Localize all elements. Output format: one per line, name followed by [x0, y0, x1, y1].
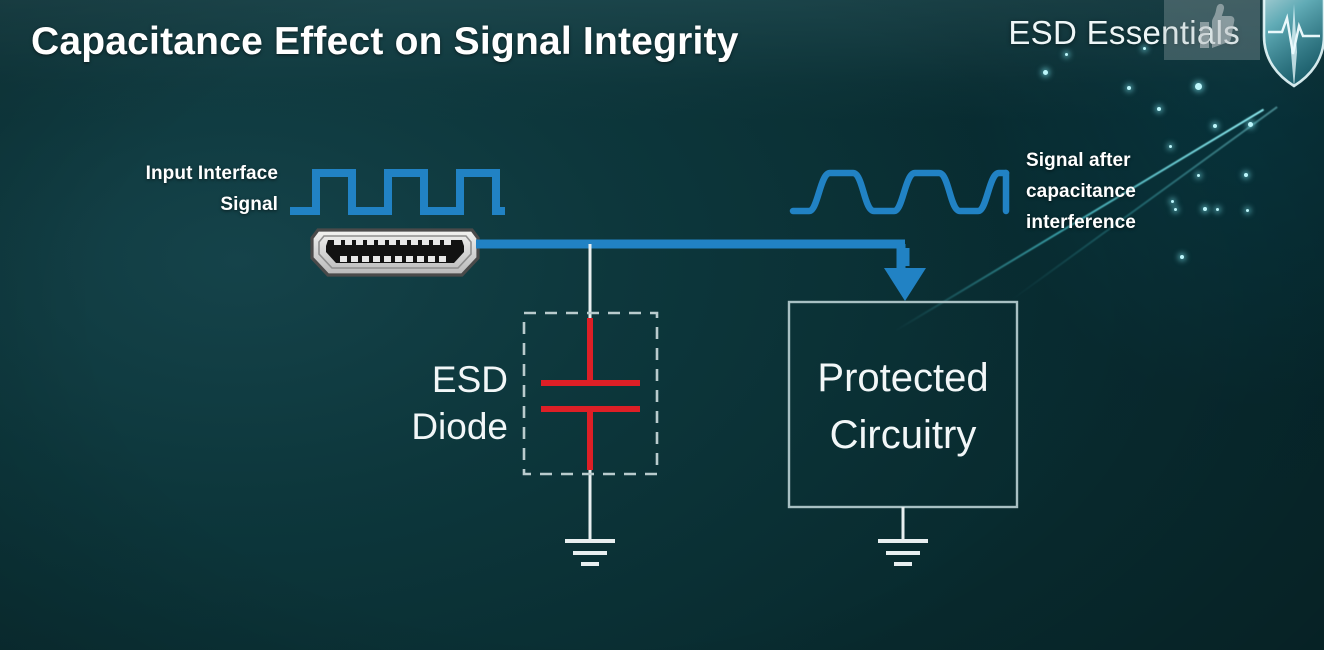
esd-diode-label-line1: ESD: [432, 359, 508, 400]
output-waveform-square-wave-rounded: [793, 173, 1006, 211]
esd-diode-label-line2: Diode: [411, 406, 508, 447]
slide-canvas: Capacitance Effect on Signal Integrity E…: [0, 0, 1324, 650]
input-waveform-square-wave-sharp: [290, 173, 505, 211]
circuit-diagram: ESD Diode Protected Circuitry: [0, 0, 1324, 650]
capacitor-icon: [541, 318, 640, 470]
ground-icon: [565, 541, 615, 564]
protected-circuitry-label-line2: Circuitry: [830, 413, 977, 457]
hdmi-connector-icon: [312, 230, 478, 275]
signal-trace: [476, 244, 926, 301]
arrow-down-icon: [884, 268, 926, 301]
protected-circuitry-label-line1: Protected: [817, 356, 988, 400]
ground-icon: [878, 541, 928, 564]
esd-branch: [524, 244, 657, 564]
